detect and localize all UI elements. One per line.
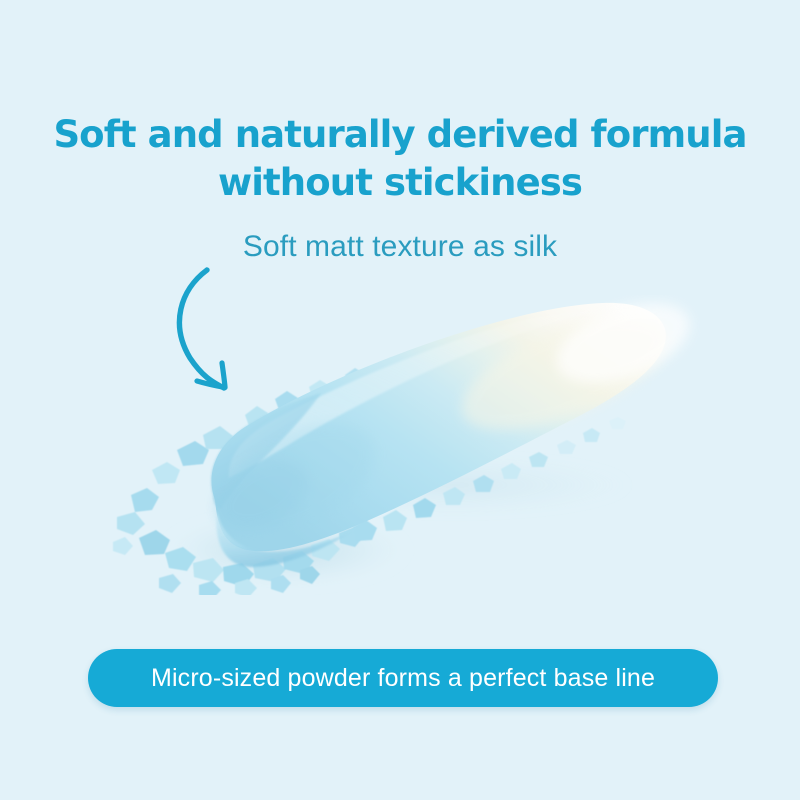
page-title: Soft and naturally derived formula witho… bbox=[0, 111, 800, 207]
powder-swatch bbox=[95, 295, 715, 595]
powder-swatch-image bbox=[95, 295, 715, 595]
promo-banner: Soft and naturally derived formula witho… bbox=[0, 0, 800, 800]
cta-pill-label: Micro-sized powder forms a perfect base … bbox=[151, 666, 655, 691]
subtitle-text: Soft matt texture as silk bbox=[0, 228, 800, 266]
cta-pill[interactable]: Micro-sized powder forms a perfect base … bbox=[88, 649, 718, 707]
